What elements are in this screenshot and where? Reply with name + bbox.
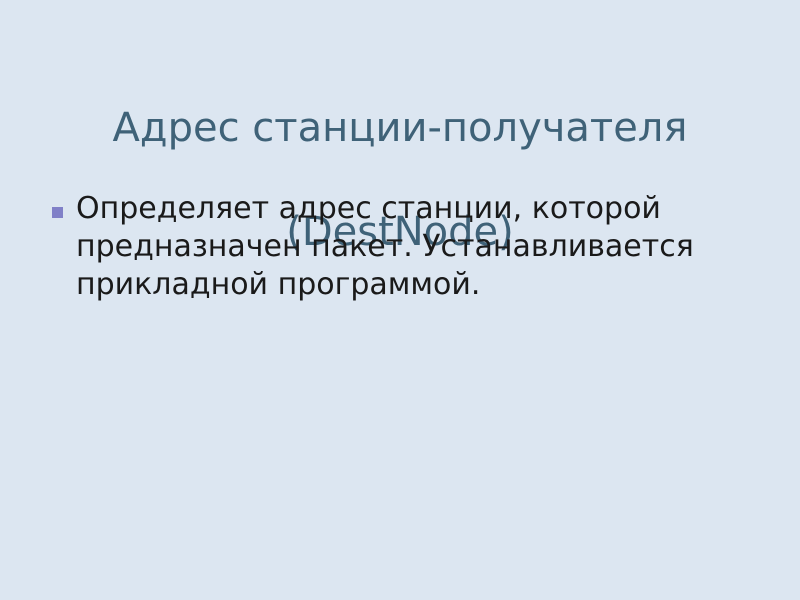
page-title-line-1: Адрес станции-получателя <box>60 102 740 154</box>
square-bullet-icon <box>52 207 63 218</box>
slide-canvas: Адрес станции-получателя (DestNode) Опре… <box>0 0 800 600</box>
list-item: Определяет адрес станции, которой предна… <box>44 190 744 304</box>
list-item-label: Определяет адрес станции, которой предна… <box>76 190 744 304</box>
body-bullet-list: Определяет адрес станции, которой предна… <box>44 190 744 304</box>
